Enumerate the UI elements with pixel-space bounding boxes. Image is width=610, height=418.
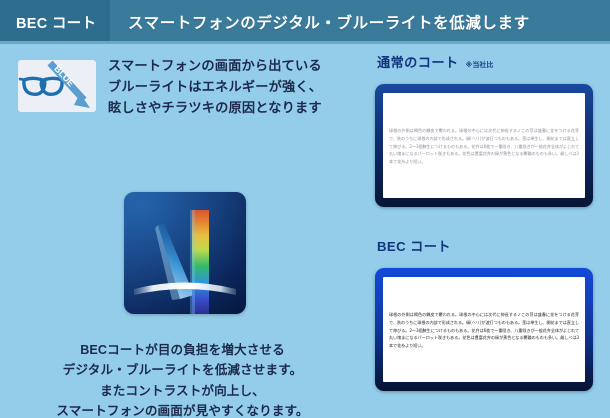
- sample-panel-normal-inner: 球根の外側は褐色の鱗皮で覆われる。球根の中心には次代に伸長するノこの芽は盛春に花…: [383, 93, 585, 198]
- panel-heading-bec: BEC コート: [377, 236, 458, 255]
- panel-heading-normal-label: 通常のコート: [377, 52, 459, 71]
- panel-heading-normal-note: ※当社比: [466, 60, 494, 70]
- blue-light-prism-image: [124, 192, 246, 314]
- summary-text: BECコートが目の負担を増大させる デジタル・ブルーライトを低減させます。 また…: [0, 340, 365, 418]
- left-content-column: BLUE スマートフォンの画面から出ている ブルーライトはエネルギーが強く、 眩…: [0, 44, 365, 418]
- intro-row: BLUE スマートフォンの画面から出ている ブルーライトはエネルギーが強く、 眩…: [18, 56, 358, 119]
- sample-text-bec: 球根の外側は褐色の鱗皮で覆われる。球根の中心には次代に伸長するノこの芽は盛春に花…: [389, 311, 579, 349]
- intro-text: スマートフォンの画面から出ている ブルーライトはエネルギーが強く、 眩しさやチラ…: [108, 56, 322, 119]
- header-badge: BEC コート: [0, 0, 110, 44]
- sample-panel-bec: 球根の外側は褐色の鱗皮で覆われる。球根の中心には次代に伸長するノこの芽は盛春に花…: [375, 268, 593, 391]
- icon-word-blue: BLUE: [52, 64, 76, 89]
- panel-heading-normal: 通常のコート ※当社比: [377, 52, 493, 71]
- sample-panel-bec-inner: 球根の外側は褐色の鱗皮で覆われる。球根の中心には次代に伸長するノこの芽は盛春に花…: [383, 277, 585, 382]
- right-comparison-column: 通常のコート ※当社比 球根の外側は褐色の鱗皮で覆われる。球根の中心には次代に伸…: [365, 44, 610, 418]
- page-title: スマートフォンのデジタル・ブルーライトを低減します: [110, 0, 610, 44]
- slide-root: BEC コート スマートフォンのデジタル・ブルーライトを低減します: [0, 0, 610, 418]
- sample-text-normal: 球根の外側は褐色の鱗皮で覆われる。球根の中心には次代に伸長するノこの芽は盛春に花…: [389, 127, 579, 165]
- sample-panel-normal: 球根の外側は褐色の鱗皮で覆われる。球根の中心には次代に伸長するノこの芽は盛春に花…: [375, 84, 593, 207]
- header-bar: BEC コート スマートフォンのデジタル・ブルーライトを低減します: [0, 0, 610, 44]
- panel-heading-bec-label: BEC コート: [377, 236, 451, 255]
- glasses-blue-light-icon: BLUE: [18, 60, 96, 112]
